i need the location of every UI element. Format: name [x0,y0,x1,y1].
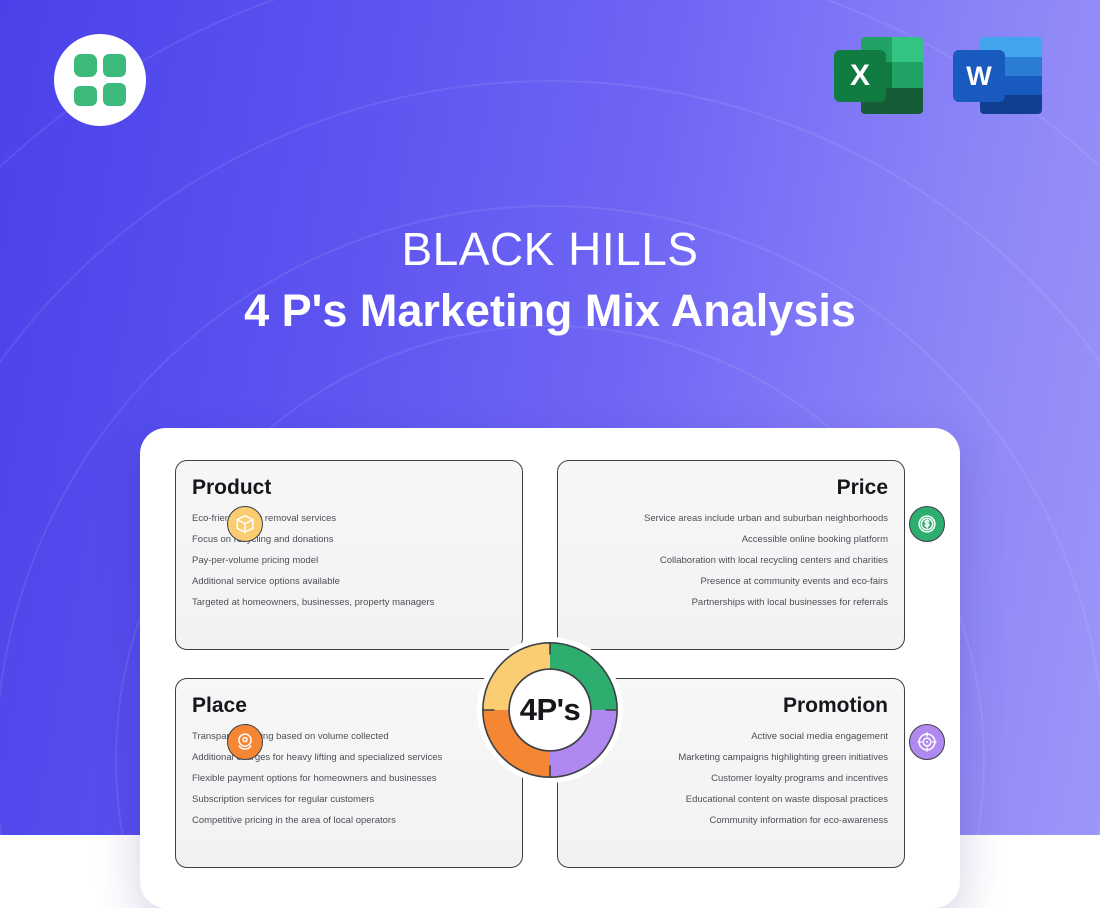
list-item: Educational content on waste disposal pr… [574,795,888,805]
list-item: Community information for eco-awareness [574,816,888,826]
package-box-icon[interactable] [227,506,263,542]
donut-chart: 4P's [477,637,623,783]
word-icon[interactable]: W [950,28,1045,123]
target-crosshair-icon[interactable] [909,724,945,760]
list-item: Partnerships with local businesses for r… [574,598,888,608]
quadrant-product[interactable]: Product Eco-friendly junk removal servic… [175,460,523,650]
list-item: Pay-per-volume pricing model [192,556,506,566]
quadrant-price-title: Price [574,477,888,498]
grid-squares-logo-icon [74,54,126,106]
logo-square-4 [103,83,126,106]
quadrant-place[interactable]: Place Transparent pricing based on volum… [175,678,523,868]
list-item: Collaboration with local recycling cente… [574,556,888,566]
logo-square-3 [74,86,97,106]
list-item: Subscription services for regular custom… [192,795,506,805]
logo-square-1 [74,54,97,77]
page-title: BLACK HILLS [0,225,1100,275]
office-app-icons: X W [831,28,1045,123]
quadrant-product-title: Product [192,477,506,498]
donut-center-label: 4P's [477,692,623,728]
diagram-card: Product Eco-friendly junk removal servic… [140,428,960,908]
word-letter-badge: W [953,50,1005,102]
list-item: Additional service options available [192,577,506,587]
list-item: Targeted at homeowners, businesses, prop… [192,598,506,608]
page-subtitle: 4 P's Marketing Mix Analysis [0,281,1100,342]
dollar-coin-icon[interactable] [909,506,945,542]
location-pin-icon[interactable] [227,724,263,760]
excel-letter-badge: X [834,50,886,102]
list-item: Service areas include urban and suburban… [574,514,888,524]
brand-logo[interactable] [54,34,146,126]
quadrant-price-list: Service areas include urban and suburban… [574,514,888,608]
quadrant-place-title: Place [192,695,506,716]
header-titles: BLACK HILLS 4 P's Marketing Mix Analysis [0,225,1100,341]
list-item: Presence at community events and eco-fai… [574,577,888,587]
list-item: Accessible online booking platform [574,535,888,545]
list-item: Competitive pricing in the area of local… [192,816,506,826]
excel-icon[interactable]: X [831,28,926,123]
quadrant-grid: Product Eco-friendly junk removal servic… [175,460,925,908]
list-item: Flexible payment options for homeowners … [192,774,506,784]
logo-square-2 [103,54,126,77]
quadrant-price[interactable]: Price Service areas include urban and su… [557,460,905,650]
